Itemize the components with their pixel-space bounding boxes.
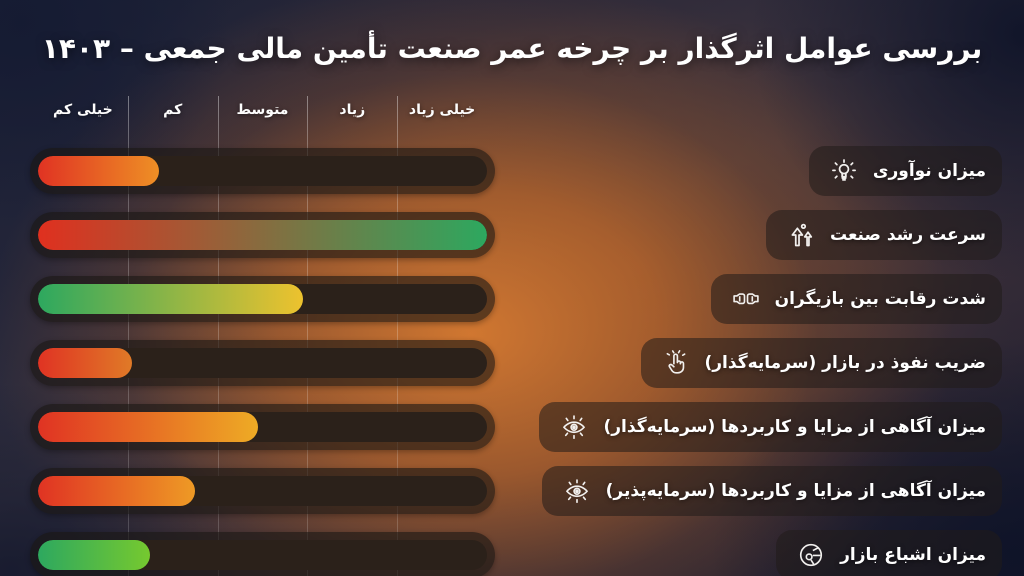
bar-row: میزان آگاهی از مزایا و کاربردها (سرمایه‌… [0, 396, 1024, 458]
lightbulb-icon [829, 156, 859, 186]
bar-fill [38, 348, 132, 378]
row-label: میزان آگاهی از مزایا و کاربردها (سرمایه‌… [606, 481, 986, 501]
row-label-pill: ضریب نفوذ در بازار (سرمایه‌گذار) [641, 338, 1003, 388]
bar-fill [38, 412, 258, 442]
bar-track-inner [38, 476, 487, 506]
bar-track [30, 532, 495, 576]
bar-fill [38, 540, 150, 570]
row-label-pill: میزان اشباع بازار [776, 530, 1002, 576]
row-label-pill: شدت رقابت بین بازیگران [711, 274, 1002, 324]
row-label-pill: میزان آگاهی از مزایا و کاربردها (سرمایه‌… [542, 466, 1002, 516]
bar-row: شدت رقابت بین بازیگران [0, 268, 1024, 330]
bar-track-inner [38, 220, 487, 250]
bar-track-wrapper [30, 404, 495, 450]
bar-fill [38, 284, 303, 314]
bar-fill [38, 476, 195, 506]
chart-area: خیلی کمکممتوسطزیادخیلی زیاد میزان نوآوری… [0, 96, 1024, 576]
bar-track-inner [38, 348, 487, 378]
bar-fill [38, 220, 487, 250]
bar-row: ضریب نفوذ در بازار (سرمایه‌گذار) [0, 332, 1024, 394]
infographic-canvas: بررسی عوامل اثرگذار بر چرخه عمر صنعت تأم… [0, 0, 1024, 576]
bar-row: میزان اشباع بازار [0, 524, 1024, 576]
scale-label-2: کم [163, 102, 182, 118]
row-label-pill: میزان آگاهی از مزایا و کاربردها (سرمایه‌… [539, 402, 1002, 452]
bar-track-inner [38, 540, 487, 570]
page-title: بررسی عوامل اثرگذار بر چرخه عمر صنعت تأم… [42, 32, 983, 65]
eye-awareness-icon [562, 476, 592, 506]
bar-row: میزان آگاهی از مزایا و کاربردها (سرمایه‌… [0, 460, 1024, 522]
pie-chart-icon [796, 540, 826, 570]
eye-awareness-icon [559, 412, 589, 442]
fist-bump-icon [731, 284, 761, 314]
bar-track [30, 468, 495, 514]
bar-fill [38, 156, 159, 186]
bar-rows: میزان نوآوریسرعت رشد صنعتشدت رقابت بین ب… [0, 140, 1024, 576]
bar-track [30, 148, 495, 194]
scale-labels: خیلی کمکممتوسطزیادخیلی زیاد [0, 102, 1024, 136]
growth-arrows-icon [786, 220, 816, 250]
bar-row: میزان نوآوری [0, 140, 1024, 202]
scale-label-4: زیاد [339, 102, 365, 118]
bar-track-wrapper [30, 212, 495, 258]
bar-track-wrapper [30, 340, 495, 386]
row-label: میزان اشباع بازار [840, 545, 986, 565]
row-label-pill: سرعت رشد صنعت [766, 210, 1002, 260]
scale-label-1: خیلی کم [53, 102, 113, 118]
row-label: ضریب نفوذ در بازار (سرمایه‌گذار) [705, 353, 987, 373]
row-label: شدت رقابت بین بازیگران [775, 289, 986, 309]
row-label: میزان آگاهی از مزایا و کاربردها (سرمایه‌… [603, 417, 986, 437]
scale-label-3: متوسط [237, 102, 289, 118]
row-label: میزان نوآوری [873, 161, 986, 181]
bar-track-inner [38, 156, 487, 186]
bar-track-inner [38, 412, 487, 442]
bar-track [30, 340, 495, 386]
bar-track-wrapper [30, 532, 495, 576]
title-bar: بررسی عوامل اثرگذار بر چرخه عمر صنعت تأم… [0, 0, 1024, 96]
row-label-pill: میزان نوآوری [809, 146, 1002, 196]
bar-track [30, 404, 495, 450]
bar-track-inner [38, 284, 487, 314]
bar-track-wrapper [30, 148, 495, 194]
scale-label-5: خیلی زیاد [409, 102, 475, 118]
row-label: سرعت رشد صنعت [830, 225, 986, 245]
bar-track [30, 276, 495, 322]
bar-track-wrapper [30, 276, 495, 322]
bar-row: سرعت رشد صنعت [0, 204, 1024, 266]
bar-track-wrapper [30, 468, 495, 514]
bar-track [30, 212, 495, 258]
click-hand-icon [661, 348, 691, 378]
